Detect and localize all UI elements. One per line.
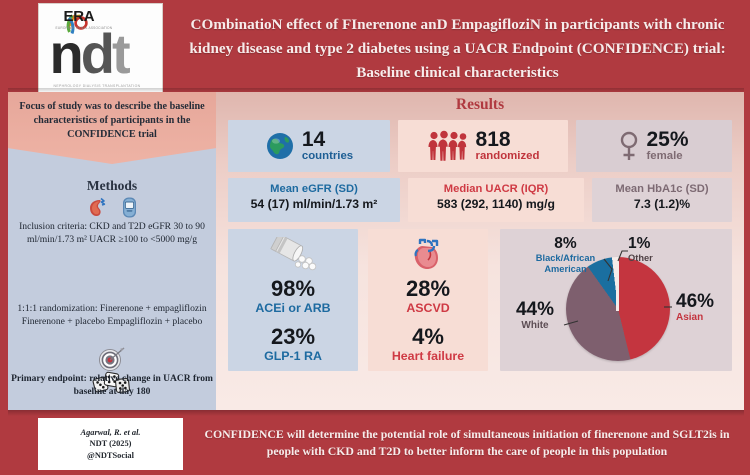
page-title: COmbinatioN effect of FInerenone anD Emp… — [170, 10, 745, 88]
pill-bottle-icon — [268, 237, 318, 271]
egfr-label: Mean eGFR (SD) — [228, 183, 400, 195]
methods-panel: Focus of study was to describe the basel… — [8, 92, 216, 410]
methods-heading: Methods — [8, 178, 216, 194]
hba1c-value: 7.3 (1.2)% — [592, 197, 732, 211]
header-banner: ERA EUROPEAN RENAL ASSOCIATION ndt NEPHR… — [0, 0, 750, 92]
heart-failure-value: 4% — [368, 324, 488, 349]
randomized-value: 818 — [476, 129, 540, 150]
acei-arb-value: 98% — [228, 276, 358, 301]
logo-letter-n: n — [50, 22, 81, 85]
results-panel: Results 14 countries — [216, 92, 744, 410]
glp1-label: GLP-1 RA — [228, 349, 358, 364]
citation-text: Agarwal, R. et al. NDT (2025) @NDTSocial — [80, 427, 140, 462]
glp1-value: 23% — [228, 324, 358, 349]
pie-label-other: 1% Other — [628, 235, 702, 264]
focus-text: Focus of study was to describe the basel… — [8, 100, 216, 143]
glucose-meter-icon — [121, 196, 138, 219]
logo-letter-d: d — [81, 22, 112, 85]
acei-arb-label: ACEi or ARB — [228, 301, 358, 316]
randomized-label: randomized — [476, 150, 540, 163]
randomized-card: 818 randomized — [398, 120, 568, 172]
kidney-icon — [87, 197, 107, 219]
globe-icon — [265, 131, 295, 161]
egfr-card: Mean eGFR (SD) 54 (17) ml/min/1.73 m² — [228, 178, 400, 222]
countries-value: 14 — [302, 129, 353, 150]
conclusion-text: CONFIDENCE will determine the potential … — [190, 414, 744, 472]
citation-handle: @NDTSocial — [87, 451, 134, 460]
era-ndt-logo: ERA EUROPEAN RENAL ASSOCIATION ndt NEPHR… — [38, 3, 163, 93]
race-pie-chart: 8% Black/African American 1% Other 44% W… — [500, 229, 732, 371]
inclusion-criteria-text: Inclusion criteria: CKD and T2D eGFR 30 … — [8, 220, 216, 247]
methods-icon-row — [8, 196, 216, 219]
cardiovascular-card: 28% ASCVD 4% Heart failure — [368, 229, 488, 371]
ascvd-value: 28% — [368, 276, 488, 301]
egfr-value: 54 (17) ml/min/1.73 m² — [228, 197, 400, 211]
hba1c-label: Mean HbA1c (SD) — [592, 183, 732, 195]
logo-letter-t: t — [112, 22, 128, 85]
primary-endpoint-text: Primary endpoint: relative change in UAC… — [8, 373, 216, 399]
pie-label-black-african: 8% Black/African American — [518, 235, 613, 274]
countries-label: countries — [302, 150, 353, 163]
pie-label-white: 44% White — [504, 299, 566, 332]
uacr-card: Median UACR (IQR) 583 (292, 1140) mg/g — [408, 178, 584, 222]
heart-icon — [410, 237, 446, 271]
pie-label-asian: 46% Asian — [676, 291, 732, 324]
female-card: 25% female — [576, 120, 732, 172]
randomization-text: 1:1:1 randomization: Finerenone + empagl… — [8, 302, 216, 329]
female-label: female — [646, 150, 688, 163]
target-icon-row — [8, 346, 216, 372]
uacr-label: Median UACR (IQR) — [408, 183, 584, 195]
ascvd-label: ASCVD — [368, 301, 488, 316]
race-pie-chart-card: 8% Black/African American 1% Other 44% W… — [500, 229, 732, 371]
results-heading: Results — [216, 96, 744, 114]
citation-journal: NDT (2025) — [90, 439, 132, 448]
hba1c-card: Mean HbA1c (SD) 7.3 (1.2)% — [592, 178, 732, 222]
heart-failure-label: Heart failure — [368, 349, 488, 364]
uacr-value: 583 (292, 1140) mg/g — [408, 197, 584, 211]
female-symbol-icon — [619, 130, 639, 162]
female-value: 25% — [646, 129, 688, 150]
people-group-icon — [427, 130, 469, 162]
citation-authors: Agarwal, R. et al. — [80, 428, 140, 437]
medications-card: 98% ACEi or ARB 23% GLP-1 RA — [228, 229, 358, 371]
target-dart-icon — [97, 346, 127, 372]
citation-box: Agarwal, R. et al. NDT (2025) @NDTSocial — [38, 418, 183, 470]
countries-card: 14 countries — [228, 120, 390, 172]
infographic-root: ERA EUROPEAN RENAL ASSOCIATION ndt NEPHR… — [0, 0, 750, 475]
logo-ndt-wordmark: ndt — [50, 26, 128, 82]
